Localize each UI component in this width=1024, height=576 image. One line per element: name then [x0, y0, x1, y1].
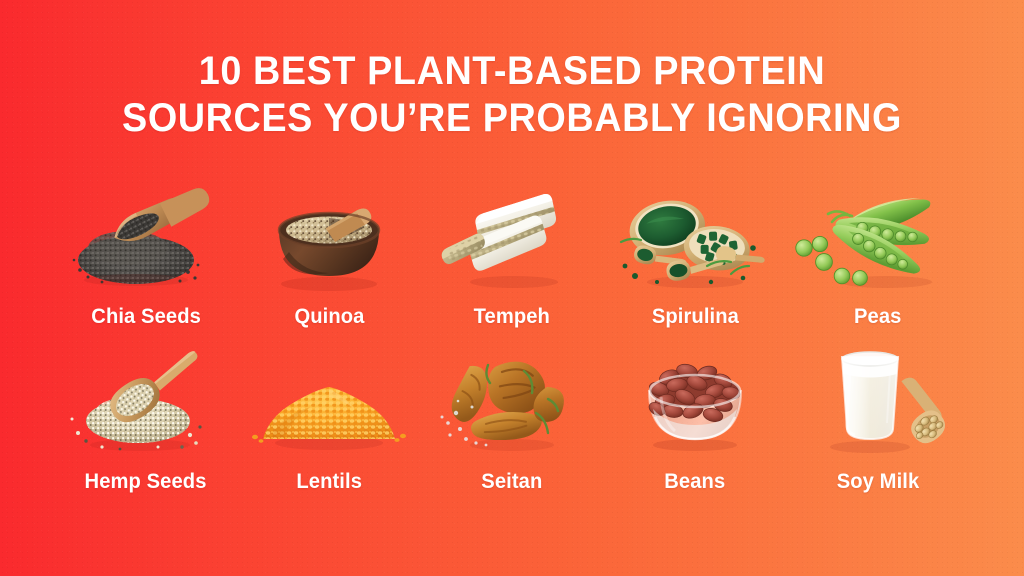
soy-milk-glass-with-soybean-spoon-icon — [794, 347, 962, 459]
grid-item-lentils[interactable]: Lentils — [238, 347, 421, 494]
grid-item-spirulina[interactable]: Spirulina — [604, 182, 787, 329]
chia-seeds-with-wooden-scoop-icon — [62, 182, 230, 294]
quinoa-in-wooden-bowl-with-scoop-icon — [245, 182, 413, 294]
item-label: Soy Milk — [837, 470, 920, 494]
item-label: Quinoa — [294, 305, 364, 329]
item-label: Tempeh — [474, 305, 550, 329]
item-label: Hemp Seeds — [85, 470, 207, 494]
item-label: Chia Seeds — [91, 305, 201, 329]
infographic-poster: 10 BEST PLANT-BASED PROTEIN SOURCES YOU’… — [0, 0, 1024, 576]
title-line-2: SOURCES YOU’RE PROBABLY IGNORING — [28, 95, 996, 142]
grid-row-1: Chia Seeds — [0, 182, 1024, 329]
page-title: 10 BEST PLANT-BASED PROTEIN SOURCES YOU’… — [0, 48, 1024, 142]
grid-item-seitan[interactable]: Seitan — [421, 347, 604, 494]
green-pea-pods-icon — [794, 182, 962, 294]
grid-item-hemp-seeds[interactable]: Hemp Seeds — [55, 347, 238, 494]
red-lentil-pile-icon — [245, 347, 413, 459]
item-label: Beans — [665, 470, 726, 494]
grid-item-chia-seeds[interactable]: Chia Seeds — [55, 182, 238, 329]
grid-item-tempeh[interactable]: Tempeh — [421, 182, 604, 329]
grid-item-beans[interactable]: Beans — [604, 347, 787, 494]
item-label: Lentils — [296, 470, 362, 494]
hemp-seeds-with-wooden-spoon-icon — [62, 347, 230, 459]
grid-item-quinoa[interactable]: Quinoa — [238, 182, 421, 329]
spirulina-powder-bowls-and-tablets-icon — [611, 182, 779, 294]
tempeh-blocks-icon — [428, 182, 596, 294]
protein-source-grid: Chia Seeds — [0, 182, 1024, 494]
grid-row-2: Hemp Seeds — [0, 347, 1024, 494]
seitan-strips-icon — [428, 347, 596, 459]
grid-item-peas[interactable]: Peas — [787, 182, 970, 329]
item-label: Seitan — [481, 470, 542, 494]
kidney-beans-in-glass-bowl-icon — [611, 347, 779, 459]
title-line-1: 10 BEST PLANT-BASED PROTEIN — [28, 48, 996, 95]
item-label: Peas — [854, 305, 901, 329]
grid-item-soy-milk[interactable]: Soy Milk — [787, 347, 970, 494]
item-label: Spirulina — [651, 305, 738, 329]
